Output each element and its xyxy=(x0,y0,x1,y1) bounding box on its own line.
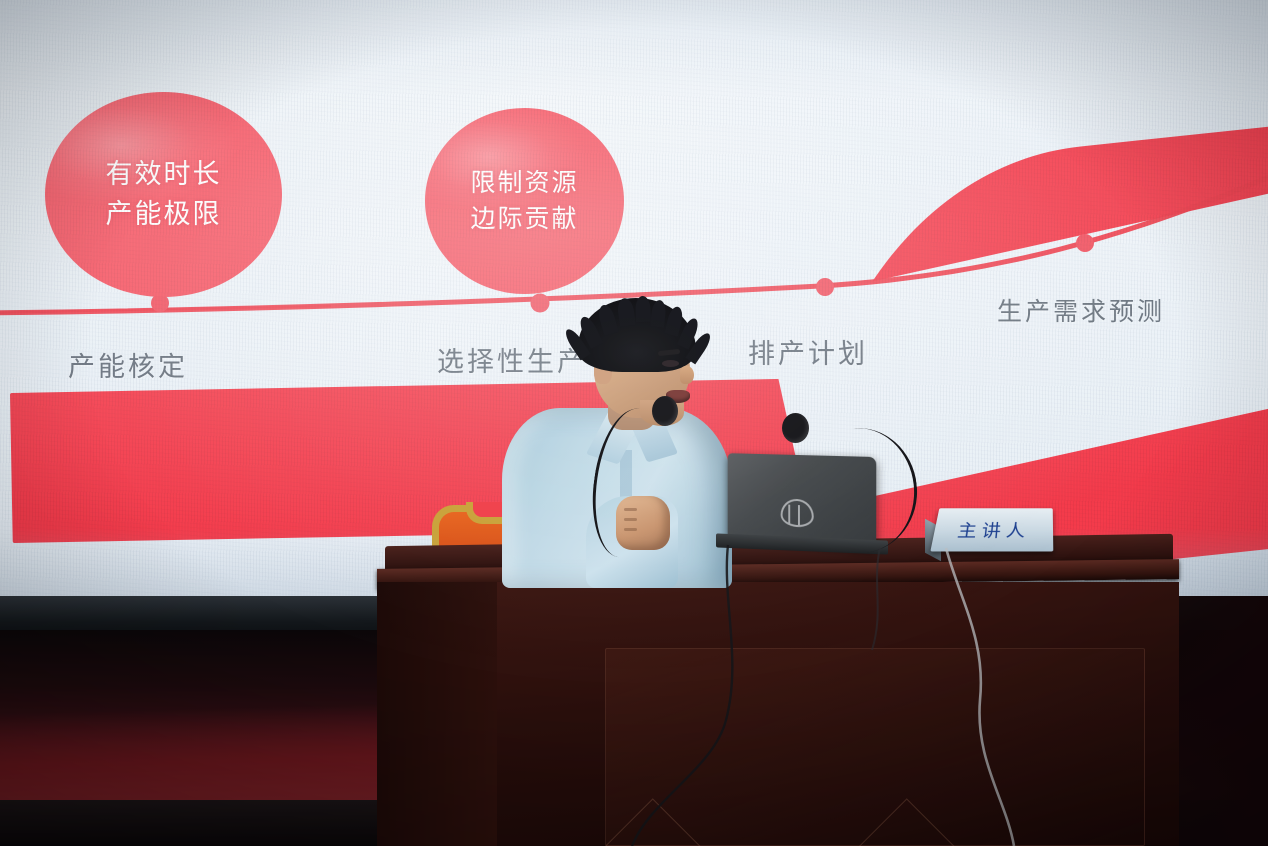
presenter-hair xyxy=(578,298,696,372)
slide-bubble-resource: 限制资源 边际贡献 xyxy=(425,108,624,294)
hair-spike xyxy=(596,303,619,336)
presentation-scene: 有效时长 产能极限 限制资源 边际贡献 产能核定 选择性生产 排产计划 生产需求… xyxy=(0,0,1268,846)
bubble-1-line-1: 有效时长 xyxy=(106,155,222,194)
nameplate-text: 主讲人 xyxy=(956,517,1030,541)
hair-spike xyxy=(635,296,651,323)
timeline-label-demand-forecast: 生产需求预测 xyxy=(997,292,1165,328)
bubble-1-line-2: 产能极限 xyxy=(106,195,222,234)
timeline-label-production-schedule: 排产计划 xyxy=(748,332,868,371)
presenter-eye xyxy=(662,360,679,367)
bubble-2-line-1: 限制资源 xyxy=(470,165,578,201)
podium xyxy=(385,540,1173,846)
podium-left-side xyxy=(377,582,497,846)
hair-spike xyxy=(616,297,636,327)
timeline-label-capacity-check: 产能核定 xyxy=(68,345,188,384)
nameplate-face: 主讲人 xyxy=(930,508,1053,551)
bubble-2-line-2: 边际贡献 xyxy=(470,201,578,237)
podium-inset-panel xyxy=(605,648,1145,846)
presenter-nose xyxy=(680,366,694,384)
hair-spike xyxy=(650,299,667,328)
slide-bubble-capacity: 有效时长 产能极限 xyxy=(45,92,282,297)
timeline-node-4 xyxy=(1076,234,1094,252)
microphone-head-right xyxy=(782,413,809,443)
timeline-node-3 xyxy=(816,278,834,296)
speaker-nameplate: 主讲人 xyxy=(935,505,1053,553)
microphone-head-left xyxy=(652,396,678,426)
